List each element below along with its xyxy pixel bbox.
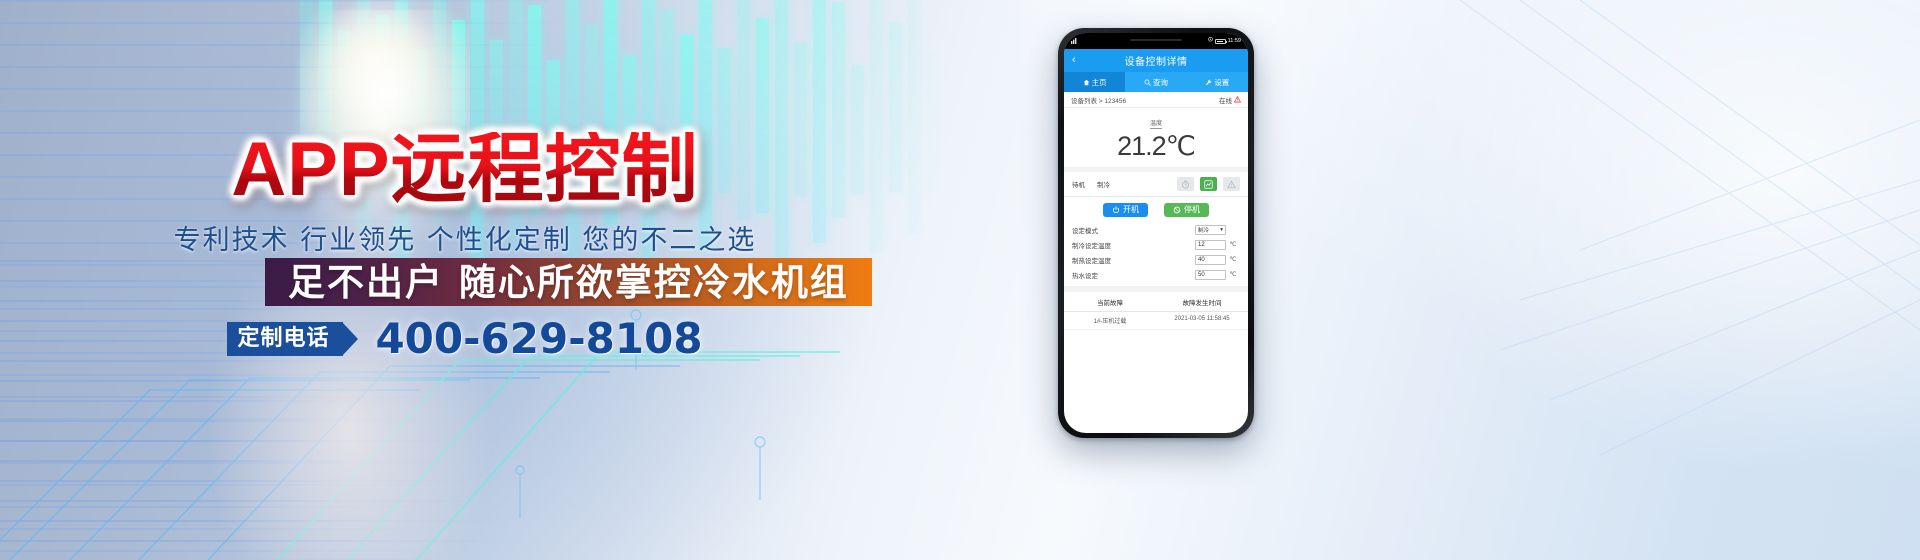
- light-streaks: [1220, 0, 1920, 560]
- mode-status-row: 待机 制冷: [1064, 172, 1248, 197]
- alert-icon-button[interactable]: [1223, 177, 1240, 191]
- breadcrumb: 设备列表 > 123456 在线: [1064, 92, 1248, 108]
- power-on-button[interactable]: 开机: [1103, 203, 1148, 217]
- phone-tabbar: 主页 查询 设置: [1064, 72, 1248, 92]
- tab-search[interactable]: 查询: [1125, 72, 1186, 92]
- setting-label-mode: 设定模式: [1072, 225, 1195, 235]
- setting-row-hotwater: 热水设定 50 ℃: [1072, 267, 1240, 282]
- breadcrumb-path[interactable]: 设备列表 > 123456: [1071, 95, 1126, 105]
- setting-unit-cool-temp: ℃: [1226, 241, 1240, 248]
- chart-icon-button[interactable]: [1200, 177, 1217, 191]
- temperature-label: 温度: [1150, 121, 1162, 129]
- setting-row-heat-temp: 制热设定温度 40 ℃: [1072, 252, 1240, 267]
- home-icon: [1083, 79, 1090, 86]
- settings-form: 设定模式 制冷 ▾ 制冷设定温度 12 ℃ 制热设定温度 40 ℃: [1064, 222, 1248, 286]
- mode-state-label: 待机: [1072, 179, 1085, 189]
- contact-phone-number[interactable]: 400-629-8108: [375, 318, 702, 360]
- stop-icon: [1173, 206, 1181, 214]
- banner-stage: APP远程控制 专利技术 行业领先 个性化定制 您的不二之选 足不出户 随心所欲…: [0, 0, 1920, 560]
- setting-row-mode: 设定模式 制冷 ▾: [1072, 222, 1240, 237]
- mode-select[interactable]: 制冷 ▾: [1195, 225, 1226, 235]
- warning-triangle-icon: [1234, 96, 1241, 103]
- hero-ribbon: 足不出户 随心所欲掌控冷水机组: [265, 258, 872, 306]
- phone-screen: 11:59 ‹ 设备控制详情 主页 查询: [1064, 33, 1248, 433]
- device-status-label: 在线: [1219, 95, 1232, 105]
- temperature-panel: 温度 21.2℃: [1064, 108, 1248, 172]
- fault-table-header: 当前故障 故障发生时间: [1064, 292, 1248, 312]
- power-on-label: 开机: [1123, 206, 1139, 214]
- fault-col-name: 当前故障: [1064, 297, 1156, 307]
- cool-temp-input[interactable]: 12: [1195, 240, 1226, 250]
- hero-subtitle: 专利技术 行业领先 个性化定制 您的不二之选: [0, 218, 930, 257]
- status-time: 11:59: [1228, 38, 1241, 44]
- back-chevron-icon[interactable]: ‹: [1072, 55, 1076, 66]
- phone-earpiece: [1130, 39, 1182, 41]
- status-right-group: 11:59: [1208, 37, 1241, 45]
- wrench-icon: [1205, 79, 1212, 86]
- page-title: APP远程控制: [0, 132, 930, 208]
- hero-ribbon-text: 足不出户 随心所欲掌控冷水机组: [288, 264, 849, 301]
- phone-navbar: ‹ 设备控制详情: [1064, 49, 1248, 72]
- power-off-label: 停机: [1184, 206, 1200, 214]
- phone-page-title: 设备控制详情: [1064, 53, 1248, 68]
- fault-time-cell: 2021-03-05 11:58:45: [1156, 316, 1248, 325]
- fault-table: 当前故障 故障发生时间 1#-压机过载 2021-03-05 11:58:45: [1064, 292, 1248, 330]
- timer-icon-button[interactable]: [1177, 177, 1194, 191]
- phone-status-bar: 11:59: [1064, 33, 1248, 49]
- search-icon: [1144, 79, 1151, 86]
- mode-select-value: 制冷: [1198, 226, 1209, 234]
- battery-icon: [1215, 39, 1226, 44]
- setting-label-heat-temp: 制热设定温度: [1072, 255, 1195, 265]
- action-buttons: 开机 停机: [1064, 197, 1248, 222]
- tab-home[interactable]: 主页: [1064, 72, 1125, 92]
- contact-line: 定制电话 400-629-8108: [0, 318, 930, 360]
- power-off-button[interactable]: 停机: [1164, 203, 1209, 217]
- heat-temp-input[interactable]: 40: [1195, 255, 1226, 265]
- phone-mockup: 11:59 ‹ 设备控制详情 主页 查询: [1058, 28, 1254, 438]
- timer-icon: [1181, 180, 1190, 189]
- setting-label-cool-temp: 制冷设定温度: [1072, 240, 1195, 250]
- chevron-down-icon: ▾: [1220, 227, 1223, 233]
- alert-icon: [1227, 180, 1236, 189]
- tab-home-label: 主页: [1092, 77, 1107, 88]
- mode-cooling-label: 制冷: [1097, 179, 1110, 189]
- setting-row-cool-temp: 制冷设定温度 12 ℃: [1072, 237, 1240, 252]
- fault-col-time: 故障发生时间: [1156, 297, 1248, 307]
- contact-label: 定制电话: [227, 322, 343, 356]
- hotwater-input[interactable]: 50: [1195, 270, 1226, 280]
- signal-icon: [1071, 38, 1078, 44]
- tab-search-label: 查询: [1153, 77, 1168, 88]
- table-row[interactable]: 1#-压机过载 2021-03-05 11:58:45: [1064, 312, 1248, 330]
- setting-unit-heat-temp: ℃: [1226, 256, 1240, 263]
- setting-unit-hotwater: ℃: [1226, 271, 1240, 278]
- temperature-value: 21.2℃: [1064, 132, 1248, 160]
- chart-icon: [1204, 180, 1213, 189]
- power-icon: [1112, 206, 1120, 214]
- tab-settings[interactable]: 设置: [1187, 72, 1248, 92]
- tab-settings-label: 设置: [1214, 77, 1229, 88]
- location-icon: [1208, 37, 1213, 45]
- hero-copy: APP远程控制 专利技术 行业领先 个性化定制 您的不二之选 足不出户 随心所欲…: [0, 0, 1000, 560]
- mode-icon-buttons: [1177, 177, 1240, 191]
- fault-name-cell: 1#-压机过载: [1064, 316, 1156, 325]
- status-badge: 在线: [1219, 95, 1241, 105]
- setting-label-hotwater: 热水设定: [1072, 270, 1195, 280]
